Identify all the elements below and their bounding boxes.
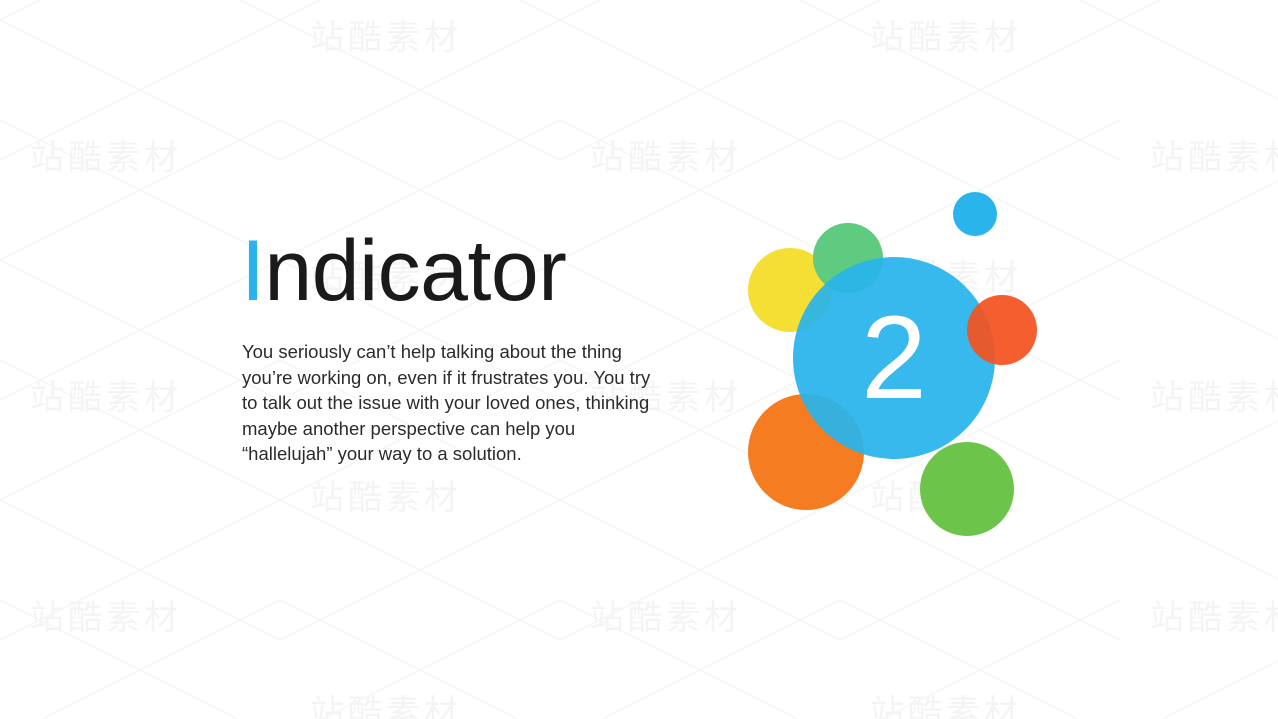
watermark-text: 站酷素材 xyxy=(1150,370,1278,419)
indicator-circle-cluster: 2 xyxy=(730,180,1070,550)
watermark-text: 站酷素材 xyxy=(30,590,182,639)
indicator-number: 2 xyxy=(861,292,927,424)
text-block: Indicator You seriously can’t help talki… xyxy=(241,228,671,467)
page-title-accent-initial: I xyxy=(241,223,264,319)
red-orange-circle xyxy=(967,295,1037,365)
slide-canvas: Indicator You seriously can’t help talki… xyxy=(0,0,1278,719)
watermark-text: 站酷素材 xyxy=(1150,130,1278,179)
watermark-text: 站酷素材 xyxy=(310,10,462,59)
watermark-text: 站酷素材 xyxy=(590,130,742,179)
small-blue-circle xyxy=(953,192,997,236)
watermark-text: 站酷素材 xyxy=(1150,590,1278,639)
body-paragraph: You seriously can’t help talking about t… xyxy=(242,339,662,467)
watermark-text: 站酷素材 xyxy=(310,470,462,519)
watermark-text: 站酷素材 xyxy=(870,10,1022,59)
leaf-green-circle xyxy=(920,442,1014,536)
watermark-text: 站酷素材 xyxy=(30,370,182,419)
page-title-rest: ndicator xyxy=(264,223,566,319)
page-title: Indicator xyxy=(241,228,671,314)
watermark-text: 站酷素材 xyxy=(310,685,462,719)
watermark-text: 站酷素材 xyxy=(870,685,1022,719)
watermark-text: 站酷素材 xyxy=(590,590,742,639)
watermark-text: 站酷素材 xyxy=(30,130,182,179)
